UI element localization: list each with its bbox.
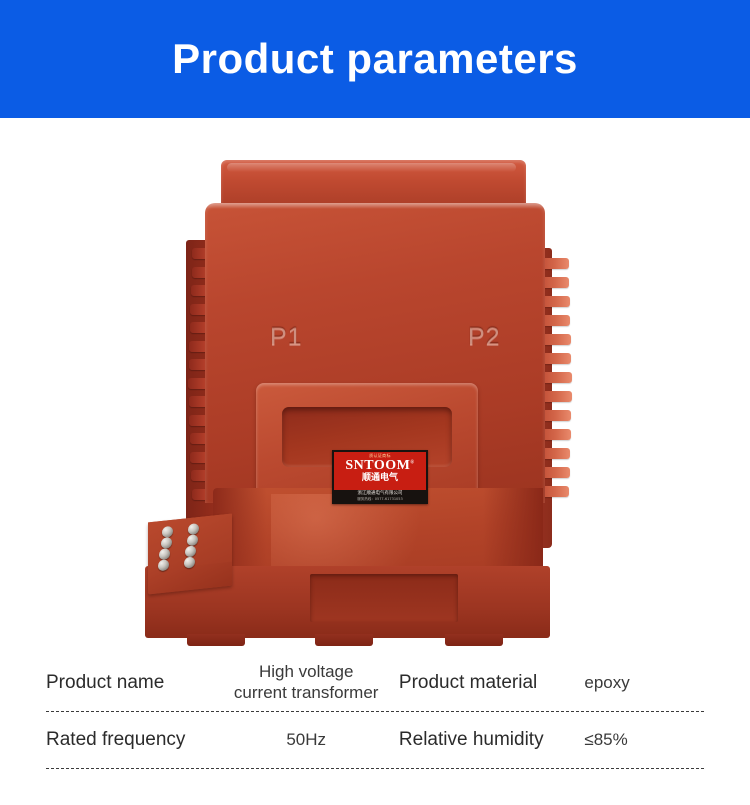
product-photo-current-transformer: P1 P2 质认证商标 SNTOOM® (0, 118, 750, 648)
page-title: Product parameters (172, 38, 578, 80)
table-row: Product name High voltagecurrent transfo… (46, 655, 704, 712)
brand-label-sticker: 质认证商标 SNTOOM® 顺通电气 浙江顺通电气有限公司 服务热线：0577-… (332, 450, 428, 504)
brand-label-inner: 质认证商标 SNTOOM® 顺通电气 浙江顺通电气有限公司 服务热线：0577-… (334, 452, 426, 502)
product-parameters-table: Product name High voltagecurrent transfo… (46, 655, 704, 769)
spec-key-rated-frequency: Rated frequency (46, 729, 213, 751)
terminal-screw (162, 526, 173, 538)
base-foot-center (315, 634, 373, 646)
product-image-stage: P1 P2 质认证商标 SNTOOM® (0, 118, 750, 648)
terminal-screw (159, 548, 170, 560)
terminal-screw (187, 534, 198, 546)
spec-key-relative-humidity: Relative humidity (399, 729, 576, 751)
spec-value-relative-humidity: ≤85% (576, 730, 704, 751)
terminal-block-top-face (148, 514, 232, 571)
terminal-marking-p1: P1 (270, 323, 303, 352)
terminal-screw (158, 559, 169, 571)
terminal-screw (185, 545, 196, 557)
faceplate-top-edge-highlight (205, 203, 545, 209)
table-row: Rated frequency 50Hz Relative humidity ≤… (46, 712, 704, 769)
page-header-banner: Product parameters (0, 0, 750, 118)
base-foot-left (187, 634, 245, 646)
spec-value-product-material: epoxy (576, 673, 704, 694)
terminal-screw (161, 537, 172, 549)
spec-value-rated-frequency: 50Hz (213, 730, 398, 751)
spec-value-product-name: High voltagecurrent transformer (213, 662, 398, 703)
registered-trademark-icon: ® (410, 460, 414, 465)
brand-name-latin: SNTOOM® (345, 459, 414, 474)
brand-contact-line: 服务热线：0577-61731053 (334, 497, 426, 501)
spec-key-product-material: Product material (399, 672, 576, 694)
terminal-screw (184, 557, 195, 569)
terminal-marking-p2: P2 (468, 323, 501, 352)
base-foot-right (445, 634, 503, 646)
secondary-terminal-block (148, 514, 232, 595)
spec-key-product-name: Product name (46, 672, 213, 694)
top-rear-highlight (227, 163, 516, 172)
base-center-recess (310, 574, 458, 622)
brand-label-footer: 浙江顺通电气有限公司 服务热线：0577-61731053 (334, 490, 426, 502)
brand-name-text: SNTOOM (345, 458, 410, 473)
brand-name-chinese: 顺通电气 (362, 474, 398, 483)
terminal-screw (188, 523, 199, 535)
